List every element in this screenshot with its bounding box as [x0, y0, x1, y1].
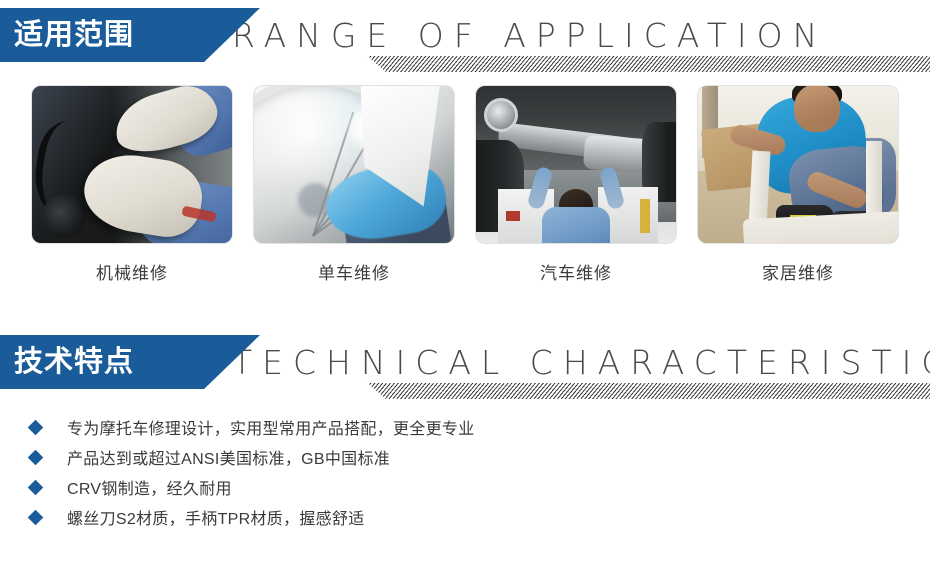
card-caption: 家居维修	[698, 259, 898, 284]
home-repair-photo	[698, 86, 898, 243]
list-item: CRV钢制造，经久耐用	[0, 472, 930, 502]
diamond-bullet-icon	[28, 449, 44, 465]
section-title-en-characteristics: TECHNICAL CHARACTERISTICS	[232, 335, 930, 389]
list-item: 产品达到或超过ANSI美国标准，GB中国标准	[0, 442, 930, 472]
card-caption: 机械维修	[32, 259, 232, 284]
card-caption: 单车维修	[254, 259, 454, 284]
diamond-bullet-icon	[28, 419, 44, 435]
feature-text: 专为摩托车修理设计，实用型常用产品搭配，更全更专业	[67, 415, 475, 439]
bicycle-repair-photo	[254, 86, 454, 243]
product-detail-page: 适用范围 RANGE OF APPLICATION 机械维修	[0, 0, 930, 576]
feature-text: 螺丝刀S2材质，手柄TPR材质，握感舒适	[67, 505, 365, 529]
application-cards-row: 机械维修 单车维修	[0, 86, 930, 284]
feature-text: 产品达到或超过ANSI美国标准，GB中国标准	[67, 445, 390, 469]
feature-list: 专为摩托车修理设计，实用型常用产品搭配，更全更专业 产品达到或超过ANSI美国标…	[0, 412, 930, 532]
diamond-bullet-icon	[28, 479, 44, 495]
mechanical-repair-photo	[32, 86, 232, 243]
diamond-bullet-icon	[28, 509, 44, 525]
application-card[interactable]: 单车维修	[254, 86, 454, 284]
application-card[interactable]: 机械维修	[32, 86, 232, 284]
section-title-cn-application: 适用范围	[14, 8, 134, 62]
application-card[interactable]: 家居维修	[698, 86, 898, 284]
section-header-application: 适用范围 RANGE OF APPLICATION	[0, 0, 930, 78]
card-caption: 汽车维修	[476, 259, 676, 284]
list-item: 螺丝刀S2材质，手柄TPR材质，握感舒适	[0, 502, 930, 532]
car-repair-photo	[476, 86, 676, 243]
list-item: 专为摩托车修理设计，实用型常用产品搭配，更全更专业	[0, 412, 930, 442]
section-title-cn-characteristics: 技术特点	[14, 335, 134, 389]
section-title-en-application: RANGE OF APPLICATION	[232, 8, 827, 62]
feature-text: CRV钢制造，经久耐用	[67, 475, 232, 499]
application-card[interactable]: 汽车维修	[476, 86, 676, 284]
section-header-characteristics: 技术特点 TECHNICAL CHARACTERISTICS	[0, 327, 930, 405]
